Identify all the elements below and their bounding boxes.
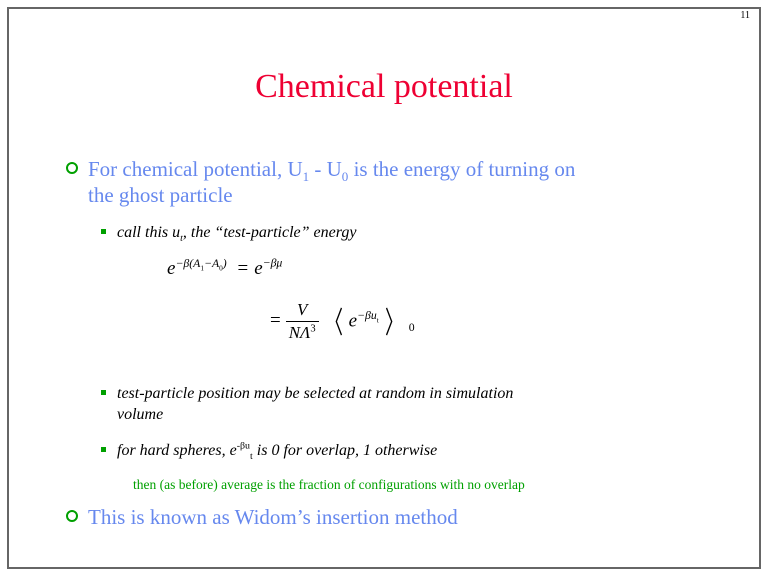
ring-bullet-icon bbox=[66, 510, 78, 522]
eq2-denominator: NΛ3 bbox=[286, 322, 319, 343]
eq2-inner-exp: −βu bbox=[357, 309, 377, 322]
slide-canvas: 11 Chemical potential For chemical poten… bbox=[0, 0, 768, 576]
subbullet-label: call this ut, the “test-particle” energy bbox=[117, 222, 356, 243]
equation-free-energy: e−β(A1−A0) =e−βμ bbox=[167, 258, 282, 280]
eq2-numerator: V bbox=[286, 300, 319, 322]
subbullet-item-random-position: test-particle position may be selected a… bbox=[101, 383, 701, 425]
eq2-inner-exp-sub: t bbox=[377, 315, 379, 324]
subbullet-c-suffix: is 0 for overlap, 1 otherwise bbox=[253, 442, 437, 459]
ring-bullet-icon bbox=[66, 162, 78, 174]
bullet1-line1-suffix: is the energy of turning on bbox=[348, 157, 575, 181]
subbullet-a-prefix: call this u bbox=[117, 224, 180, 241]
subbullet-item-test-particle-energy: call this ut, the “test-particle” energy bbox=[101, 222, 701, 243]
eq1-equals-sign: = bbox=[231, 258, 254, 279]
eq1-rhs-exp: −βμ bbox=[263, 257, 283, 270]
angle-bracket-left-icon: 〈 bbox=[325, 298, 343, 342]
subbullet-c-math-base: e bbox=[230, 442, 237, 459]
eq1-lhs-exp-3: ) bbox=[223, 257, 227, 270]
bullet-item-label: For chemical potential, U1 - U0 is the e… bbox=[88, 156, 575, 208]
dot-bullet-icon bbox=[101, 229, 106, 234]
eq2-denominator-text: NΛ bbox=[289, 323, 311, 342]
equation-widom-average: = V NΛ3 〈e−βut〉0 bbox=[270, 300, 415, 344]
subbullet-label: for hard spheres, e-βut is 0 for overlap… bbox=[117, 440, 437, 461]
eq2-bracket-subscript: 0 bbox=[409, 321, 415, 334]
eq1-rhs-base: e bbox=[254, 258, 262, 279]
eq2-fraction: V NΛ3 bbox=[286, 300, 319, 343]
eq2-inner-base: e bbox=[349, 310, 357, 331]
bullet-item-label: This is known as Widom’s insertion metho… bbox=[88, 504, 458, 530]
eq2-equals-sign: = bbox=[270, 310, 286, 331]
subbullet-c-prefix: for hard spheres, bbox=[117, 442, 230, 459]
bullet1-line1-prefix: For chemical potential, U bbox=[88, 157, 303, 181]
bullet1-line1-mid: - U bbox=[309, 157, 342, 181]
page-number: 11 bbox=[740, 10, 750, 21]
eq1-lhs-exp-1: −β(A bbox=[175, 257, 200, 270]
eq2-denominator-exp: 3 bbox=[310, 323, 315, 334]
page-title: Chemical potential bbox=[0, 68, 768, 106]
subbullet-c-math-exp: -βu bbox=[237, 441, 250, 452]
eq1-lhs-exp-2: −A bbox=[204, 257, 219, 270]
dot-bullet-icon bbox=[101, 447, 106, 452]
bullet-item-widom-insertion: This is known as Widom’s insertion metho… bbox=[66, 504, 706, 530]
note-fraction-no-overlap: then (as before) average is the fraction… bbox=[133, 477, 525, 493]
subbullet-item-hard-spheres: for hard spheres, e-βut is 0 for overlap… bbox=[101, 440, 701, 461]
bullet1-line2: the ghost particle bbox=[88, 182, 575, 208]
subbullet-b-line1: test-particle position may be selected a… bbox=[117, 383, 513, 404]
subbullet-b-line2: volume bbox=[117, 404, 513, 425]
subbullet-label: test-particle position may be selected a… bbox=[117, 383, 513, 425]
dot-bullet-icon bbox=[101, 390, 106, 395]
subbullet-a-suffix: , the “test-particle” energy bbox=[183, 224, 357, 241]
bullet-item-chemical-potential: For chemical potential, U1 - U0 is the e… bbox=[66, 156, 706, 208]
angle-bracket-right-icon: 〉 bbox=[385, 298, 403, 342]
